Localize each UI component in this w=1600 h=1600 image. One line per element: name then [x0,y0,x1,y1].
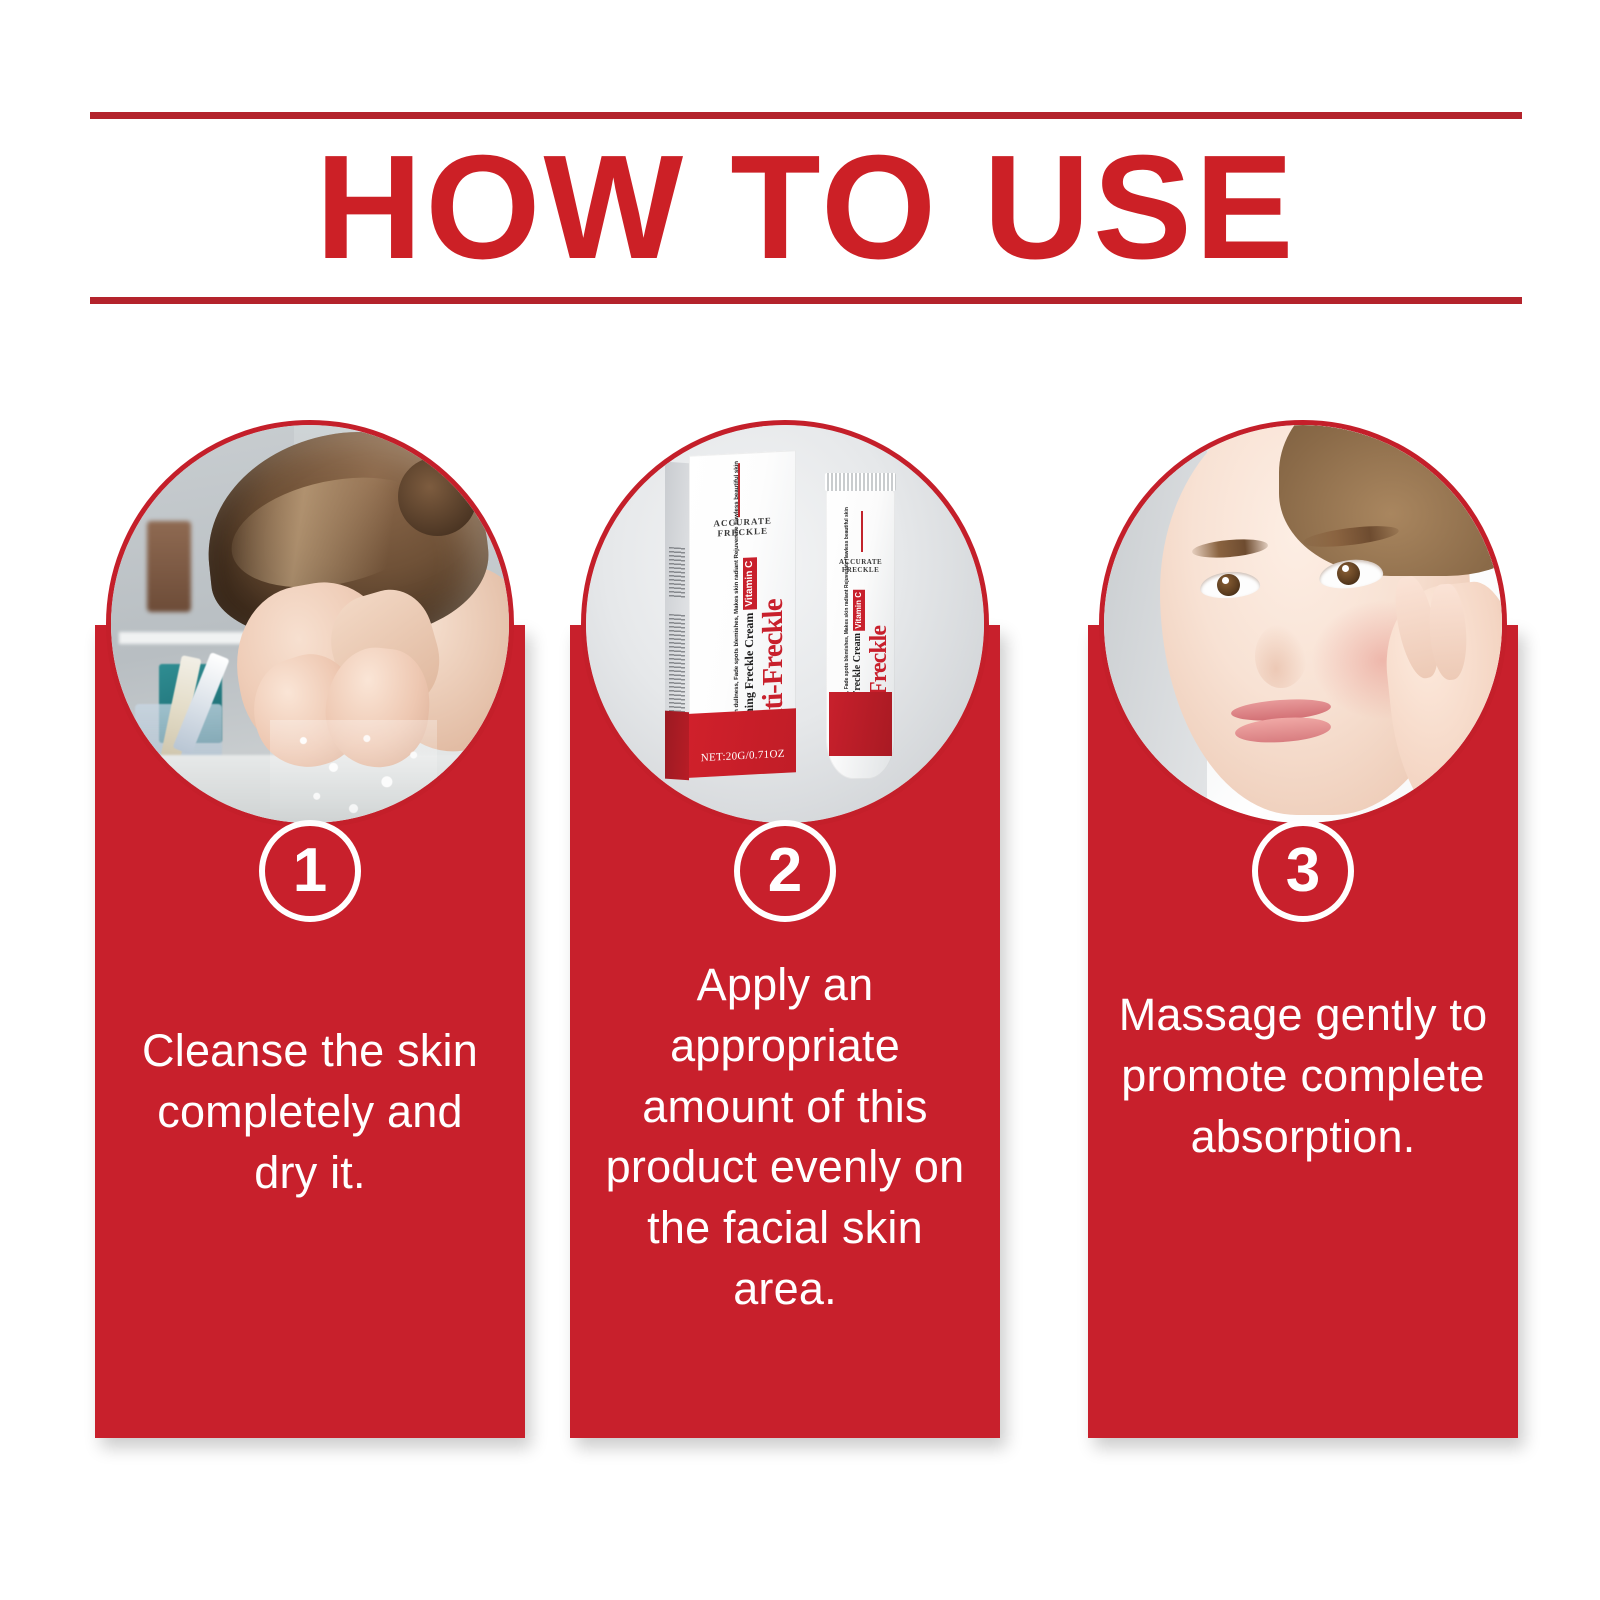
photo-clip: ACCURATE FRECKLE Anti-Freckle Whitening … [586,425,984,823]
touching-cheek-image [1104,425,1502,823]
photo-clip [111,425,509,823]
step-photo-2: ACCURATE FRECKLE Anti-Freckle Whitening … [581,420,989,828]
product-ingredient-badge: Vitamin C [743,557,757,610]
product-brand-line: ACCURATE FRECKLE [696,515,791,540]
steps-row: 1 Cleanse the skin completely and dry it… [0,0,1600,1600]
step-number-badge-3: 3 [1252,820,1354,922]
step-card-3[interactable]: 3 Massage gently to promote complete abs… [1088,625,1518,1438]
step-number-badge-2: 2 [734,820,836,922]
water-splash-icon [270,720,437,823]
product-tube: ACCURATE FRECKLE Anti-Freckle Whitening … [825,473,897,779]
step-number-badge-1: 1 [259,820,361,922]
step-caption-2: Apply an appropriate amount of this prod… [596,955,974,1320]
product-packshot-image: ACCURATE FRECKLE Anti-Freckle Whitening … [586,425,984,823]
tube-ingredient-badge: Vitamin C [853,590,865,631]
product-box: ACCURATE FRECKLE Anti-Freckle Whitening … [689,450,796,778]
step-card-2[interactable]: ACCURATE FRECKLE Anti-Freckle Whitening … [570,625,1000,1438]
step-caption-1: Cleanse the skin completely and dry it. [121,1021,499,1203]
washing-face-image [111,425,509,823]
step-photo-3 [1099,420,1507,828]
infographic-page: HOW TO USE [0,0,1600,1600]
step-card-1[interactable]: 1 Cleanse the skin completely and dry it… [95,625,525,1438]
photo-clip [1104,425,1502,823]
step-caption-3: Massage gently to promote complete absor… [1114,985,1492,1167]
tube-brand-line: ACCURATE FRECKLE [826,558,895,574]
step-photo-1 [106,420,514,828]
